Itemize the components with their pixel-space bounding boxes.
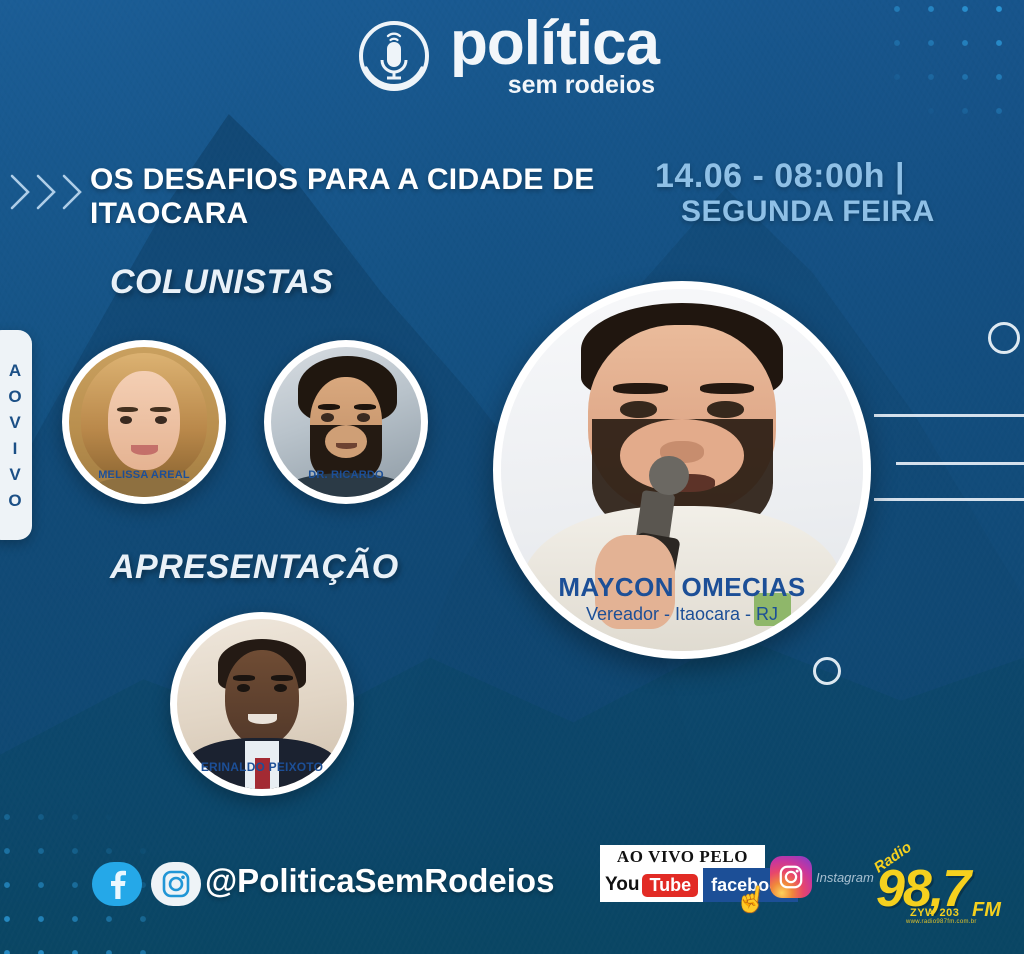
schedule-block: 14.06 - 08:00h | SEGUNDA FEIRA [655, 158, 985, 230]
edge-line-middle [896, 462, 1024, 465]
live-letter: O [8, 388, 21, 405]
instagram-icon[interactable] [151, 862, 201, 906]
edge-line-bottom [874, 498, 1024, 501]
live-letter: V [9, 414, 20, 431]
dot-pattern-top-right [880, 0, 1024, 122]
schedule-date-time: 14.06 - 08:00h | [655, 158, 985, 195]
guest-name: MAYCON OMECIAS [493, 572, 871, 603]
instagram-glyph-icon [770, 856, 812, 898]
social-handle[interactable]: @PoliticaSemRodeios [205, 862, 554, 900]
logo-tagline: sem rodeios [508, 74, 655, 97]
guest-role: Vereador - Itaocara - RJ [493, 604, 871, 625]
youtube-logo[interactable]: You Tube [600, 868, 703, 902]
edge-circle-right [988, 322, 1020, 354]
avatar-name: DR. RICARDO [264, 469, 428, 481]
section-title-columnists: COLUNISTAS [110, 263, 333, 302]
live-show-promo-poster: política sem rodeios OS DESAFIOS PARA A … [0, 0, 1024, 954]
radio-callsign: ZYW 203 [910, 907, 959, 919]
radio-station-logo: Radio 98,7 ZYW 203 FM www.radio987fm.com… [866, 843, 1016, 939]
avatar-melissa-areal[interactable]: MELISSA AREAL [62, 340, 226, 504]
avatar-dr-ricardo[interactable]: DR. RICARDO [264, 340, 428, 504]
schedule-weekday: SEGUNDA FEIRA [655, 195, 985, 230]
live-letter: O [8, 492, 21, 509]
brand-logo: política sem rodeios [352, 14, 659, 98]
live-badge[interactable]: A O V I V O [0, 330, 32, 540]
youtube-tube-text: Tube [642, 874, 698, 897]
avatar-name: ERINALDO PEIXOTO [170, 760, 354, 774]
microphone-circle-icon [352, 14, 436, 98]
avatar-erinaldo-peixoto[interactable]: ERINALDO PEIXOTO [170, 612, 354, 796]
youtube-you-text: You [605, 874, 639, 896]
guest-card-maycon-omecias[interactable]: MAYCON OMECIAS Vereador - Itaocara - RJ [493, 281, 871, 659]
live-letter: V [9, 466, 20, 483]
live-letter: I [13, 440, 18, 457]
section-title-presentation: APRESENTAÇÃO [110, 548, 399, 587]
edge-line-top [874, 414, 1024, 417]
logo-wordmark: política [450, 16, 659, 72]
guest-label: MAYCON OMECIAS Vereador - Itaocara - RJ [493, 572, 871, 625]
social-icons[interactable] [92, 862, 201, 906]
chevron-right-icons [8, 168, 86, 216]
instagram-logo-footer[interactable]: Instagram [770, 856, 874, 898]
live-letter: A [9, 362, 21, 379]
decor-circle-center [813, 657, 841, 685]
radio-website: www.radio987fm.com.br [906, 919, 977, 925]
live-platforms-header: AO VIVO PELO [600, 845, 765, 868]
page-title: OS DESAFIOS PARA A CIDADE DE ITAOCARA [90, 163, 610, 230]
facebook-icon[interactable] [92, 862, 142, 906]
avatar-name: MELISSA AREAL [62, 469, 226, 481]
hand-cursor-icon: ☝ [733, 882, 769, 917]
